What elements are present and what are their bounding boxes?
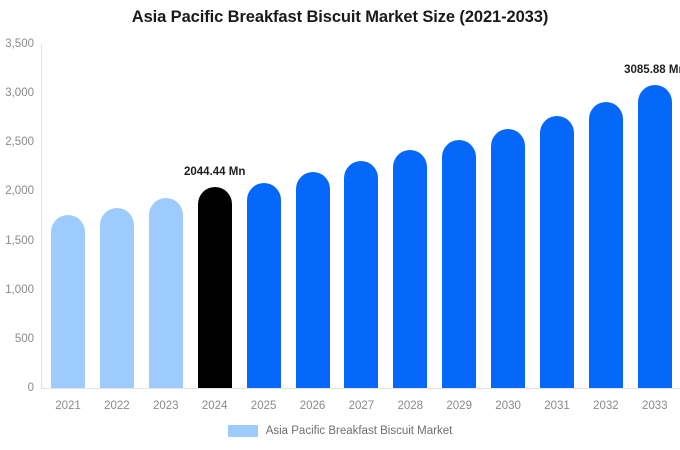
bar-2025[interactable] <box>247 183 281 388</box>
x-axis-tick-2023: 2023 <box>142 400 190 412</box>
chart-container: Asia Pacific Breakfast Biscuit Market Si… <box>0 0 680 450</box>
bar-2029[interactable] <box>442 140 476 388</box>
bar-2033[interactable] <box>638 85 672 388</box>
x-axis-tick-2031: 2031 <box>533 400 581 412</box>
bar-2027[interactable] <box>344 161 378 388</box>
chart-legend: Asia Pacific Breakfast Biscuit Market <box>0 425 680 437</box>
x-axis-tick-2021: 2021 <box>44 400 92 412</box>
bar-2030[interactable] <box>491 129 525 388</box>
x-axis-tick-2027: 2027 <box>337 400 385 412</box>
legend-swatch-asia-pacific-breakfast-biscuit-market <box>228 425 258 437</box>
x-axis-tick-2029: 2029 <box>435 400 483 412</box>
bar-2024[interactable] <box>198 187 232 388</box>
bar-2021[interactable] <box>51 215 85 388</box>
bar-value-label-2033: 3085.88 Mn <box>617 64 680 76</box>
bar-2023[interactable] <box>149 198 183 388</box>
bar-2026[interactable] <box>296 172 330 388</box>
bar-value-label-2024: 2044.44 Mn <box>177 166 253 178</box>
bar-2028[interactable] <box>393 150 427 388</box>
bar-2031[interactable] <box>540 116 574 388</box>
x-axis-tick-2025: 2025 <box>240 400 288 412</box>
x-axis-tick-2024: 2024 <box>191 400 239 412</box>
x-axis-tick-2032: 2032 <box>582 400 630 412</box>
bars-layer: 20212022202320242044.44 Mn20252026202720… <box>0 0 680 450</box>
x-axis-tick-2028: 2028 <box>386 400 434 412</box>
x-axis-tick-2030: 2030 <box>484 400 532 412</box>
legend-label-asia-pacific-breakfast-biscuit-market: Asia Pacific Breakfast Biscuit Market <box>266 425 453 437</box>
x-axis-tick-2033: 2033 <box>631 400 679 412</box>
bar-2022[interactable] <box>100 208 134 388</box>
x-axis-tick-2022: 2022 <box>93 400 141 412</box>
x-axis-tick-2026: 2026 <box>289 400 337 412</box>
bar-2032[interactable] <box>589 102 623 388</box>
